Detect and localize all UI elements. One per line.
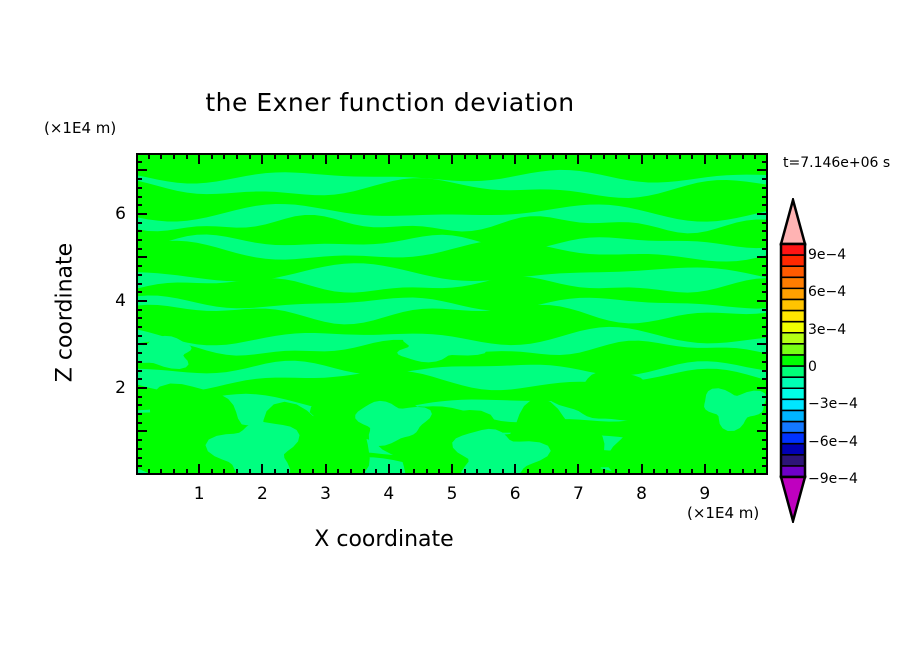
colorbar-tick-label: −6e−4	[808, 434, 858, 450]
x-tick-label: 8	[636, 484, 647, 504]
colorbar-tick-label: −9e−4	[808, 471, 858, 487]
y-tick-label: 6	[108, 204, 126, 224]
x-tick-label: 1	[194, 484, 205, 504]
x-tick-label: 6	[510, 484, 521, 504]
x-axis-title: X coordinate	[0, 527, 768, 552]
x-tick-label: 2	[257, 484, 268, 504]
x-tick-label: 7	[573, 484, 584, 504]
axis-tick-labels-layer: 123456789246	[0, 0, 904, 654]
y-axis-title: Z coordinate	[53, 213, 78, 413]
colorbar-tick-label: 6e−4	[808, 284, 846, 300]
x-tick-label: 5	[447, 484, 458, 504]
colorbar-tick-labels: 9e−46e−43e−40−3e−4−6e−4−9e−4	[778, 198, 898, 523]
y-tick-label: 2	[108, 378, 126, 398]
colorbar-tick-label: 9e−4	[808, 247, 846, 263]
colorbar-tick-label: 0	[808, 359, 817, 375]
colorbar-tick-label: −3e−4	[808, 396, 858, 412]
colorbar-tick-label: 3e−4	[808, 322, 846, 338]
y-tick-label: 4	[108, 291, 126, 311]
x-tick-label: 9	[699, 484, 710, 504]
x-tick-label: 3	[320, 484, 331, 504]
timestamp-label: t=7.146e+06 s	[783, 155, 890, 171]
x-tick-label: 4	[383, 484, 394, 504]
